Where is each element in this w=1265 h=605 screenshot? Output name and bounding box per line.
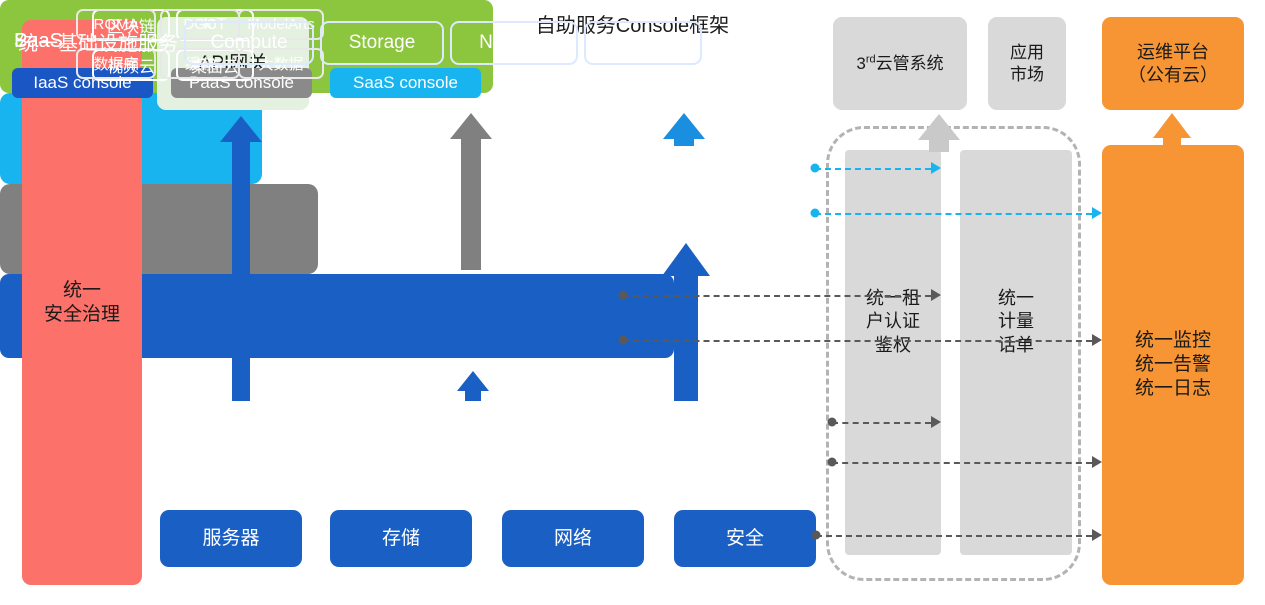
infra-chip-cce[interactable]: CCE [584, 21, 702, 65]
connector-arrowhead-resources-to-ops [1092, 529, 1102, 541]
arrow-paas-to-console [450, 113, 492, 270]
unified-metering-column: 统一 计量 话单 [960, 150, 1072, 555]
connector-saas-to-ops [815, 213, 1092, 215]
saas-console-chip[interactable]: SaaS console [330, 68, 481, 98]
arrow-infra-to-paas [457, 371, 489, 401]
app-market-label: 应用 市场 [1010, 42, 1044, 85]
unified-security-governance-label: 统一 安全治理 [44, 279, 120, 327]
connector-arrowhead-saas-to-auth [931, 162, 941, 174]
connector-arrowhead-paas-to-ops [1092, 334, 1102, 346]
connector-arrowhead-infra-to-auth [931, 416, 941, 428]
unified-monitoring-label: 统一监控 统一告警 统一日志 [1135, 329, 1211, 400]
infra-chip-compute[interactable]: Compute [184, 21, 314, 65]
connector-arrowhead-infra-to-ops [1092, 456, 1102, 468]
unified-metering-label: 统一 计量 话单 [960, 287, 1072, 357]
resource-box-storage: 存储 [330, 510, 472, 567]
arrow-ops-pillar-to-ops-platform [1153, 113, 1191, 145]
resource-box-network: 网络 [502, 510, 644, 567]
third-party-cloud-management-label: 3rd云管系统 [856, 53, 943, 74]
ops-platform-box: 运维平台 （公有云） [1102, 17, 1244, 110]
resource-box-server: 服务器 [160, 510, 302, 567]
connector-paas-to-ops [623, 340, 1092, 342]
connector-infra-to-auth [832, 422, 931, 424]
third-party-cloud-management-box: 3rd云管系统 [833, 17, 967, 110]
ops-platform-label: 运维平台 （公有云） [1128, 41, 1218, 86]
infra-chip-network[interactable]: Network [450, 21, 578, 65]
connector-paas-to-auth [623, 295, 931, 297]
arrow-saas-to-console [663, 113, 705, 146]
app-market-box: 应用 市场 [988, 17, 1066, 110]
unified-tenant-auth-label: 统一租 户认证 鉴权 [845, 287, 941, 357]
connector-infra-to-ops [832, 462, 1092, 464]
architecture-diagram: 统一 安全治理 API网关 自助服务Console框架 IaaS console… [0, 0, 1265, 605]
unified-tenant-auth-column: 统一租 户认证 鉴权 [845, 150, 941, 555]
connector-arrowhead-saas-to-ops [1092, 207, 1102, 219]
unified-monitoring-pillar: 统一监控 统一告警 统一日志 [1102, 145, 1244, 585]
unified-infrastructure-label: 统一基础设施服务 [18, 27, 178, 56]
infra-chip-storage[interactable]: Storage [320, 21, 444, 65]
connector-arrowhead-paas-to-auth [931, 289, 941, 301]
connector-saas-to-auth [815, 168, 931, 170]
unified-security-governance-pillar: 统一 安全治理 [22, 20, 142, 585]
connector-resources-to-ops [816, 535, 1092, 537]
resource-box-security: 安全 [674, 510, 816, 567]
